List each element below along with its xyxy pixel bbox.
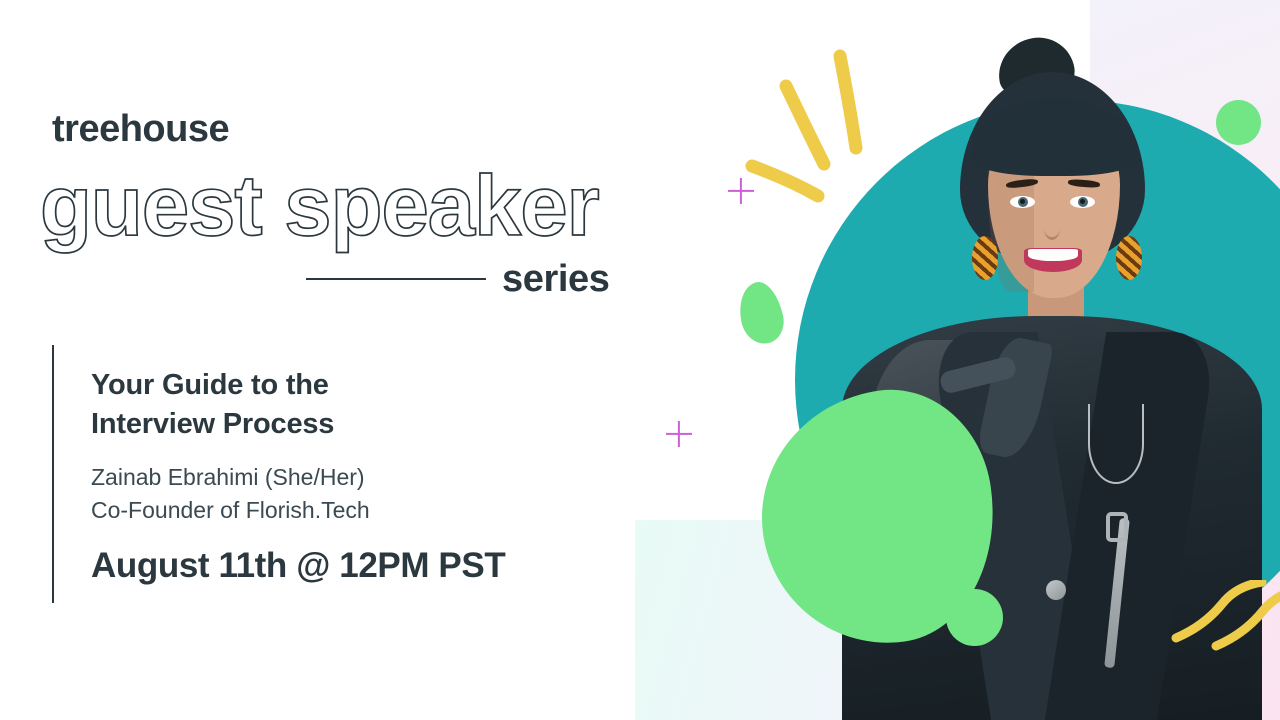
mouth — [1024, 248, 1082, 272]
session-title-line-1: Your Guide to the — [91, 366, 611, 405]
jacket-stud — [1046, 580, 1066, 600]
jacket-zipper-pull — [1106, 512, 1128, 542]
session-details: Your Guide to the Interview Process Zain… — [91, 366, 611, 586]
text-content: treehouse guest speaker series Your Guid… — [0, 0, 660, 720]
speaker-role: Co-Founder of Florish.Tech — [91, 494, 611, 527]
green-blob-small — [734, 278, 788, 347]
series-divider-rule — [306, 278, 486, 280]
session-title: Your Guide to the Interview Process — [91, 366, 611, 443]
vertical-divider — [52, 345, 54, 603]
earring-left — [972, 236, 998, 280]
session-title-line-2: Interview Process — [91, 405, 611, 444]
session-datetime: August 11th @ 12PM PST — [91, 546, 611, 586]
speaker-portrait — [820, 20, 1280, 720]
eye-right — [1070, 196, 1095, 208]
necklace — [1088, 404, 1144, 484]
nose — [1044, 216, 1060, 240]
series-row: series — [306, 256, 626, 302]
series-label: series — [502, 258, 609, 301]
magenta-plus-icon-top — [728, 178, 754, 204]
headline-outlined: guest speaker — [40, 158, 599, 256]
magenta-plus-icon-middle — [666, 421, 692, 447]
promo-slide: treehouse guest speaker series Your Guid… — [0, 0, 1280, 720]
earring-right — [1116, 236, 1142, 280]
eye-left — [1010, 196, 1035, 208]
speaker-name: Zainab Ebrahimi (She/Her) — [91, 461, 611, 494]
brand-wordmark: treehouse — [52, 108, 229, 151]
